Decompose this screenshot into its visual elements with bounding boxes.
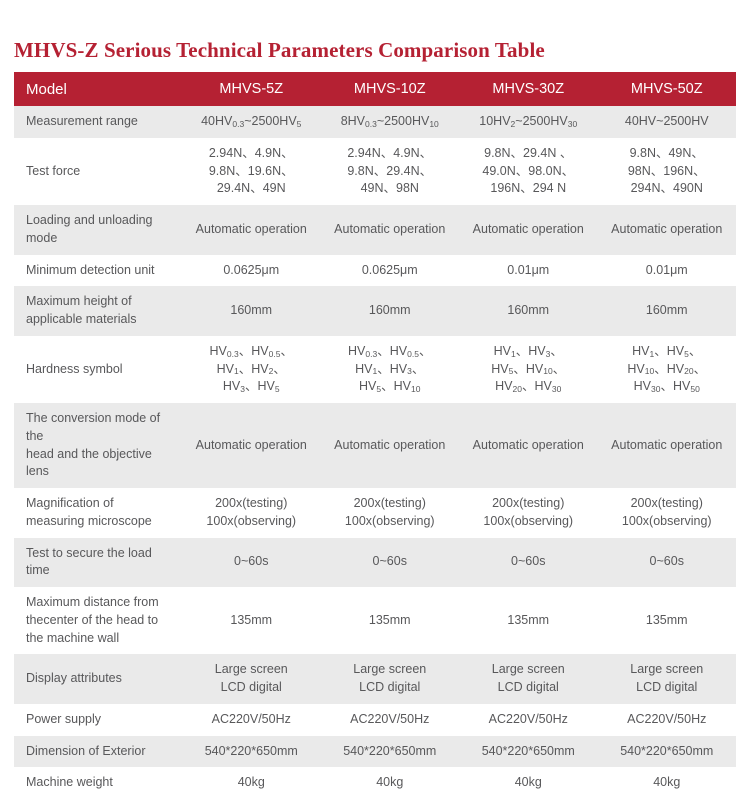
table-cell-value: 160mm <box>323 302 458 320</box>
table-cell-value: Large screenLCD digital <box>323 661 458 697</box>
table-row: Measurement range40HV0.3~2500HV58HV0.3~2… <box>14 106 736 138</box>
table-cell: 40kg <box>598 767 737 799</box>
table-cell: 40HV~2500HV <box>598 106 737 138</box>
table-cell: HV1、HV3、HV5、HV10、HV20、HV30 <box>459 336 598 403</box>
row-label: Magnification of measuring microscope <box>14 488 182 538</box>
table-cell: Automatic operation <box>598 403 737 488</box>
row-label-text: Hardness symbol <box>26 361 176 379</box>
table-cell-value: 0.01μm <box>461 262 596 280</box>
table-cell-value: 0~60s <box>323 553 458 571</box>
table-cell: 9.8N、29.4N 、49.0N、98.0N、196N、294 N <box>459 138 598 205</box>
row-label-text: Display attributes <box>26 670 176 688</box>
table-row: The conversion mode of the head and the … <box>14 403 736 488</box>
table-cell: 2.94N、4.9N、9.8N、19.6N、29.4N、49N <box>182 138 321 205</box>
row-label-text: Maximum height of applicable materials <box>26 293 176 329</box>
table-cell: AC220V/50Hz <box>182 704 321 736</box>
row-label: Machine weight <box>14 767 182 799</box>
table-row: Maximum height of applicable materials16… <box>14 286 736 336</box>
table-cell-value: 200x(testing)100x(observing) <box>184 495 319 531</box>
row-label-text: Test to secure the load time <box>26 545 176 581</box>
table-row: Dimension of Exterior540*220*650mm540*22… <box>14 736 736 768</box>
table-cell-value: 135mm <box>461 612 596 630</box>
table-cell-value: HV1、HV5、HV10、HV20、HV30、HV50 <box>600 343 735 396</box>
row-label: Dimension of Exterior <box>14 736 182 768</box>
table-cell: 0.01μm <box>598 255 737 287</box>
row-label-text: Loading and unloading mode <box>26 212 176 248</box>
table-cell: 0.0625μm <box>321 255 460 287</box>
column-header-model: Model <box>14 72 182 106</box>
table-row: Maximum distance from thecenter of the h… <box>14 587 736 654</box>
table-cell: 135mm <box>321 587 460 654</box>
table-cell-value: 9.8N、49N、98N、196N、294N、490N <box>600 145 735 198</box>
table-cell-value: Automatic operation <box>600 437 735 455</box>
table-cell: 40kg <box>321 767 460 799</box>
table-cell-value: 540*220*650mm <box>461 743 596 761</box>
table-cell-value: 135mm <box>600 612 735 630</box>
table-cell-value: 40kg <box>600 774 735 792</box>
row-label-text: Dimension of Exterior <box>26 743 176 761</box>
table-cell-value: 200x(testing)100x(observing) <box>461 495 596 531</box>
table-cell: 160mm <box>598 286 737 336</box>
table-body: Measurement range40HV0.3~2500HV58HV0.3~2… <box>14 106 736 799</box>
table-cell-value: 540*220*650mm <box>323 743 458 761</box>
table-cell-value: 8HV0.3~2500HV10 <box>323 113 458 131</box>
table-cell-value: 160mm <box>184 302 319 320</box>
table-row: Minimum detection unit0.0625μm0.0625μm0.… <box>14 255 736 287</box>
table-cell-value: 40HV0.3~2500HV5 <box>184 113 319 131</box>
table-cell-value: 40HV~2500HV <box>600 113 735 131</box>
table-cell-value: AC220V/50Hz <box>323 711 458 729</box>
row-label: Test force <box>14 138 182 205</box>
table-cell: Large screenLCD digital <box>598 654 737 704</box>
column-header-model-0: MHVS-5Z <box>182 72 321 106</box>
column-header-model-1: MHVS-10Z <box>321 72 460 106</box>
table-cell: Automatic operation <box>182 403 321 488</box>
table-cell-value: 540*220*650mm <box>600 743 735 761</box>
table-cell-value: 0~60s <box>461 553 596 571</box>
table-cell: 0~60s <box>598 538 737 588</box>
table-cell-value: 2.94N、4.9N、9.8N、29.4N、49N、98N <box>323 145 458 198</box>
table-header-row: Model MHVS-5Z MHVS-10Z MHVS-30Z MHVS-50Z <box>14 72 736 106</box>
table-cell-value: 0.0625μm <box>323 262 458 280</box>
table-cell: 40kg <box>182 767 321 799</box>
table-cell-value: Large screenLCD digital <box>600 661 735 697</box>
table-cell-value: 540*220*650mm <box>184 743 319 761</box>
table-cell: 0~60s <box>182 538 321 588</box>
row-label-text: Magnification of measuring microscope <box>26 495 176 531</box>
table-row: Test to secure the load time0~60s0~60s0~… <box>14 538 736 588</box>
table-cell: HV0.3、HV0.5、HV1、HV2、HV3、HV5 <box>182 336 321 403</box>
table-cell: 135mm <box>598 587 737 654</box>
row-label: Measurement range <box>14 106 182 138</box>
table-cell: AC220V/50Hz <box>321 704 460 736</box>
specification-comparison-table: Model MHVS-5Z MHVS-10Z MHVS-30Z MHVS-50Z… <box>14 72 736 799</box>
row-label: Display attributes <box>14 654 182 704</box>
table-cell-value: Automatic operation <box>323 437 458 455</box>
table-cell: 540*220*650mm <box>321 736 460 768</box>
table-cell: 200x(testing)100x(observing) <box>459 488 598 538</box>
table-cell-value: Automatic operation <box>184 221 319 239</box>
table-row: Test force2.94N、4.9N、9.8N、19.6N、29.4N、49… <box>14 138 736 205</box>
table-cell: Large screenLCD digital <box>321 654 460 704</box>
table-cell-value: Automatic operation <box>461 437 596 455</box>
table-cell-value: 9.8N、29.4N 、49.0N、98.0N、196N、294 N <box>461 145 596 198</box>
row-label-text: The conversion mode of the head and the … <box>26 410 176 481</box>
row-label-text: Measurement range <box>26 113 176 131</box>
table-cell: Large screenLCD digital <box>182 654 321 704</box>
table-cell: 200x(testing)100x(observing) <box>321 488 460 538</box>
table-cell: 160mm <box>321 286 460 336</box>
table-cell: 200x(testing)100x(observing) <box>182 488 321 538</box>
table-cell-value: Large screenLCD digital <box>461 661 596 697</box>
table-cell: 0~60s <box>321 538 460 588</box>
table-cell-value: 0.01μm <box>600 262 735 280</box>
table-cell: Automatic operation <box>182 205 321 255</box>
row-label-text: Minimum detection unit <box>26 262 176 280</box>
table-row: Display attributesLarge screenLCD digita… <box>14 654 736 704</box>
table-cell-value: 160mm <box>461 302 596 320</box>
table-cell-value: 135mm <box>184 612 319 630</box>
table-cell-value: Automatic operation <box>600 221 735 239</box>
table-cell: 2.94N、4.9N、9.8N、29.4N、49N、98N <box>321 138 460 205</box>
table-cell: HV0.3、HV0.5、HV1、HV3、HV5、HV10 <box>321 336 460 403</box>
table-row: Hardness symbolHV0.3、HV0.5、HV1、HV2、HV3、H… <box>14 336 736 403</box>
table-cell: 8HV0.3~2500HV10 <box>321 106 460 138</box>
table-cell: 160mm <box>182 286 321 336</box>
table-cell: 0.01μm <box>459 255 598 287</box>
table-cell: 540*220*650mm <box>182 736 321 768</box>
table-cell-value: AC220V/50Hz <box>184 711 319 729</box>
row-label: Maximum distance from thecenter of the h… <box>14 587 182 654</box>
column-header-model-3: MHVS-50Z <box>598 72 737 106</box>
table-cell-value: Large screenLCD digital <box>184 661 319 697</box>
table-cell-value: 2.94N、4.9N、9.8N、19.6N、29.4N、49N <box>184 145 319 198</box>
table-cell-value: HV1、HV3、HV5、HV10、HV20、HV30 <box>461 343 596 396</box>
table-cell: 0~60s <box>459 538 598 588</box>
row-label: The conversion mode of the head and the … <box>14 403 182 488</box>
table-cell-value: 0~60s <box>600 553 735 571</box>
row-label: Maximum height of applicable materials <box>14 286 182 336</box>
table-cell: Large screenLCD digital <box>459 654 598 704</box>
table-cell: 540*220*650mm <box>598 736 737 768</box>
table-cell-value: Automatic operation <box>184 437 319 455</box>
row-label: Minimum detection unit <box>14 255 182 287</box>
table-cell: 135mm <box>459 587 598 654</box>
table-row: Magnification of measuring microscope200… <box>14 488 736 538</box>
table-cell-value: AC220V/50Hz <box>461 711 596 729</box>
table-cell-value: 40kg <box>184 774 319 792</box>
table-cell: Automatic operation <box>459 205 598 255</box>
table-cell: 135mm <box>182 587 321 654</box>
table-cell: 160mm <box>459 286 598 336</box>
table-row: Power supplyAC220V/50HzAC220V/50HzAC220V… <box>14 704 736 736</box>
table-cell-value: 135mm <box>323 612 458 630</box>
table-cell: 40kg <box>459 767 598 799</box>
column-header-model-2: MHVS-30Z <box>459 72 598 106</box>
table-cell-value: HV0.3、HV0.5、HV1、HV2、HV3、HV5 <box>184 343 319 396</box>
table-cell: Automatic operation <box>459 403 598 488</box>
row-label: Hardness symbol <box>14 336 182 403</box>
table-cell: HV1、HV5、HV10、HV20、HV30、HV50 <box>598 336 737 403</box>
table-header: Model MHVS-5Z MHVS-10Z MHVS-30Z MHVS-50Z <box>14 72 736 106</box>
table-cell-value: 40kg <box>461 774 596 792</box>
table-cell: Automatic operation <box>321 205 460 255</box>
row-label-text: Power supply <box>26 711 176 729</box>
table-cell: Automatic operation <box>321 403 460 488</box>
row-label: Test to secure the load time <box>14 538 182 588</box>
table-cell: 540*220*650mm <box>459 736 598 768</box>
table-cell-value: 0~60s <box>184 553 319 571</box>
row-label-text: Maximum distance from thecenter of the h… <box>26 594 176 647</box>
page-title: MHVS-Z Serious Technical Parameters Comp… <box>14 38 545 63</box>
table-cell: 200x(testing)100x(observing) <box>598 488 737 538</box>
table-cell-value: Automatic operation <box>461 221 596 239</box>
row-label: Power supply <box>14 704 182 736</box>
table-cell: AC220V/50Hz <box>459 704 598 736</box>
table-cell: 9.8N、49N、98N、196N、294N、490N <box>598 138 737 205</box>
row-label-text: Machine weight <box>26 774 176 792</box>
table-row: Loading and unloading modeAutomatic oper… <box>14 205 736 255</box>
table-cell: 40HV0.3~2500HV5 <box>182 106 321 138</box>
row-label-text: Test force <box>26 163 176 181</box>
table-cell: AC220V/50Hz <box>598 704 737 736</box>
table-cell-value: Automatic operation <box>323 221 458 239</box>
table-cell-value: 160mm <box>600 302 735 320</box>
table-cell-value: 10HV2~2500HV30 <box>461 113 596 131</box>
table-cell-value: 0.0625μm <box>184 262 319 280</box>
table-cell: 0.0625μm <box>182 255 321 287</box>
table-cell-value: AC220V/50Hz <box>600 711 735 729</box>
table-cell-value: HV0.3、HV0.5、HV1、HV3、HV5、HV10 <box>323 343 458 396</box>
row-label: Loading and unloading mode <box>14 205 182 255</box>
table-cell-value: 200x(testing)100x(observing) <box>323 495 458 531</box>
table-cell-value: 40kg <box>323 774 458 792</box>
table-row: Machine weight40kg40kg40kg40kg <box>14 767 736 799</box>
table-cell: 10HV2~2500HV30 <box>459 106 598 138</box>
table-cell: Automatic operation <box>598 205 737 255</box>
table-cell-value: 200x(testing)100x(observing) <box>600 495 735 531</box>
